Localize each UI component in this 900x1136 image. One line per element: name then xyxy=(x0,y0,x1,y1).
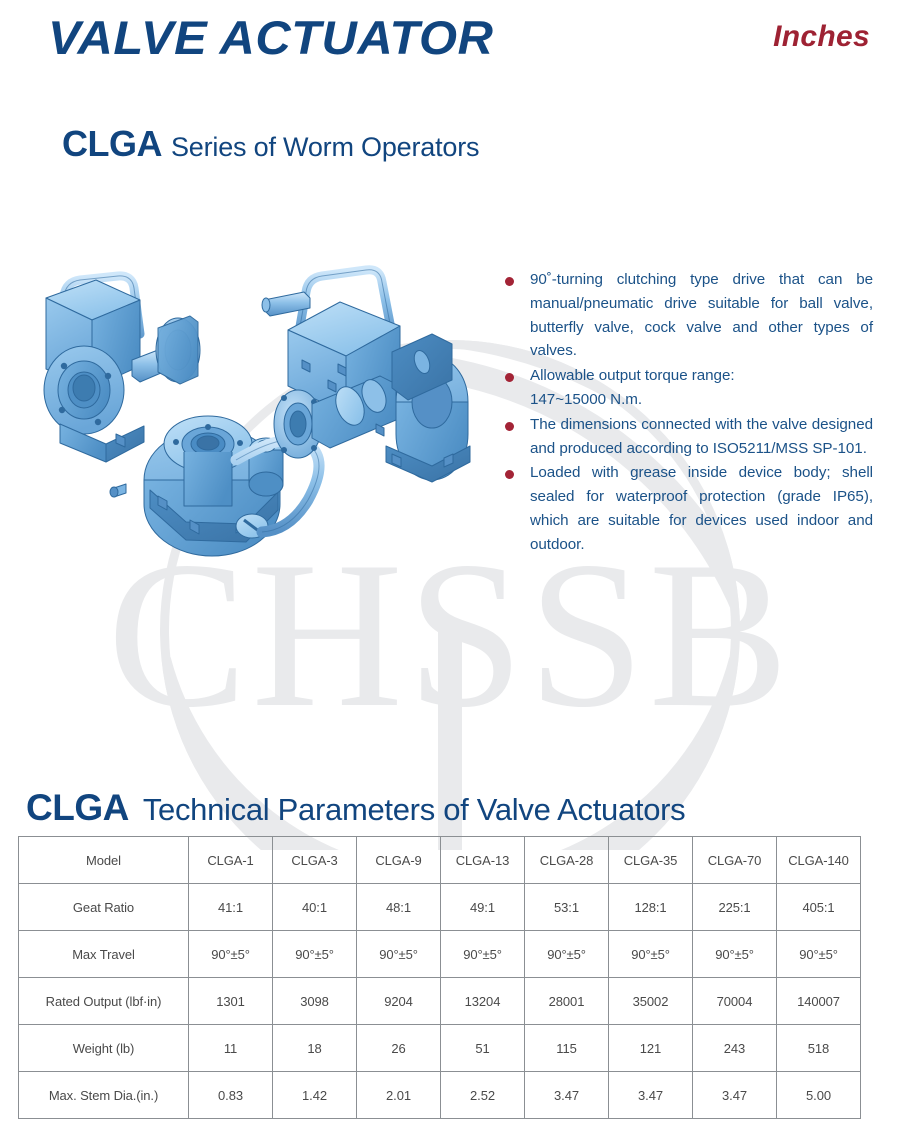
cell: 9204 xyxy=(357,978,441,1025)
row-label: Rated Output (lbf·in) xyxy=(19,978,189,1025)
cell: 225:1 xyxy=(693,884,777,931)
cell: 2.01 xyxy=(357,1072,441,1119)
bullet-icon xyxy=(505,373,514,382)
cell: 115 xyxy=(525,1025,609,1072)
row-label: Weight (lb) xyxy=(19,1025,189,1072)
table-row: Geat Ratio 41:1 40:1 48:1 49:1 53:1 128:… xyxy=(19,884,861,931)
cell: 5.00 xyxy=(777,1072,861,1119)
cell: 11 xyxy=(189,1025,273,1072)
page-title: VALVE ACTUATOR xyxy=(48,14,493,61)
cell: 13204 xyxy=(441,978,525,1025)
cell: 28001 xyxy=(525,978,609,1025)
table-row: Max Travel 90°±5° 90°±5° 90°±5° 90°±5° 9… xyxy=(19,931,861,978)
cell: 3.47 xyxy=(693,1072,777,1119)
cell: 90°±5° xyxy=(273,931,357,978)
bullet-icon xyxy=(505,470,514,479)
cell: 121 xyxy=(609,1025,693,1072)
cell: 3.47 xyxy=(525,1072,609,1119)
cell: 90°±5° xyxy=(357,931,441,978)
cell: 90°±5° xyxy=(693,931,777,978)
units-label: Inches xyxy=(773,22,870,52)
cell: 51 xyxy=(441,1025,525,1072)
cell: 128:1 xyxy=(609,884,693,931)
header-col-5: CLGA-35 xyxy=(609,837,693,884)
series-code: CLGA xyxy=(62,123,162,164)
cell: 243 xyxy=(693,1025,777,1072)
cell: 90°±5° xyxy=(609,931,693,978)
table-row: Max. Stem Dia.(in.) 0.83 1.42 2.01 2.52 … xyxy=(19,1072,861,1119)
cell: 1.42 xyxy=(273,1072,357,1119)
feature-item: Loaded with grease inside device body; s… xyxy=(503,461,873,556)
header-model: Model xyxy=(19,837,189,884)
header-col-4: CLGA-28 xyxy=(525,837,609,884)
cell: 41:1 xyxy=(189,884,273,931)
series-description: Series of Worm Operators xyxy=(171,132,479,162)
cell: 35002 xyxy=(609,978,693,1025)
cell: 90°±5° xyxy=(441,931,525,978)
cell: 70004 xyxy=(693,978,777,1025)
cell: 18 xyxy=(273,1025,357,1072)
table-row: Weight (lb) 11 18 26 51 115 121 243 518 xyxy=(19,1025,861,1072)
feature-text: 90˚-turning clutching type drive that ca… xyxy=(530,268,873,363)
bullet-icon xyxy=(505,277,514,286)
bullet-icon xyxy=(505,422,514,431)
header-col-7: CLGA-140 xyxy=(777,837,861,884)
feature-item: 90˚-turning clutching type drive that ca… xyxy=(503,268,873,363)
cell: 26 xyxy=(357,1025,441,1072)
table-heading: CLGATechnical Parameters of Valve Actuat… xyxy=(26,789,685,826)
header-col-3: CLGA-13 xyxy=(441,837,525,884)
cell: 2.52 xyxy=(441,1072,525,1119)
row-label: Max. Stem Dia.(in.) xyxy=(19,1072,189,1119)
page-header: VALVE ACTUATOR Inches xyxy=(0,0,900,78)
cell: 40:1 xyxy=(273,884,357,931)
series-heading: CLGASeries of Worm Operators xyxy=(62,126,479,162)
cell: 518 xyxy=(777,1025,861,1072)
cell: 405:1 xyxy=(777,884,861,931)
cell: 90°±5° xyxy=(525,931,609,978)
spec-table: Model CLGA-1 CLGA-3 CLGA-9 CLGA-13 CLGA-… xyxy=(18,836,861,1119)
header-col-6: CLGA-70 xyxy=(693,837,777,884)
table-row: Rated Output (lbf·in) 1301 3098 9204 132… xyxy=(19,978,861,1025)
product-image xyxy=(40,238,510,578)
table-heading-code: CLGA xyxy=(26,787,129,828)
table-heading-description: Technical Parameters of Valve Actuators xyxy=(143,792,686,827)
feature-list: 90˚-turning clutching type drive that ca… xyxy=(503,268,873,558)
cell: 3098 xyxy=(273,978,357,1025)
header-col-1: CLGA-3 xyxy=(273,837,357,884)
spec-table-container: Model CLGA-1 CLGA-3 CLGA-9 CLGA-13 CLGA-… xyxy=(18,836,815,1119)
cell: 48:1 xyxy=(357,884,441,931)
cell: 53:1 xyxy=(525,884,609,931)
cell: 0.83 xyxy=(189,1072,273,1119)
header-col-2: CLGA-9 xyxy=(357,837,441,884)
cell: 49:1 xyxy=(441,884,525,931)
feature-text: Allowable output torque range: 147~15000… xyxy=(530,364,873,412)
table-header-row: Model CLGA-1 CLGA-3 CLGA-9 CLGA-13 CLGA-… xyxy=(19,837,861,884)
feature-item: The dimensions connected with the valve … xyxy=(503,413,873,461)
cell: 90°±5° xyxy=(189,931,273,978)
row-label: Geat Ratio xyxy=(19,884,189,931)
feature-item: Allowable output torque range: 147~15000… xyxy=(503,364,873,412)
cell: 1301 xyxy=(189,978,273,1025)
cell: 140007 xyxy=(777,978,861,1025)
cell: 3.47 xyxy=(609,1072,693,1119)
feature-text: The dimensions connected with the valve … xyxy=(530,413,873,461)
cell: 90°±5° xyxy=(777,931,861,978)
feature-text: Loaded with grease inside device body; s… xyxy=(530,461,873,556)
header-col-0: CLGA-1 xyxy=(189,837,273,884)
row-label: Max Travel xyxy=(19,931,189,978)
